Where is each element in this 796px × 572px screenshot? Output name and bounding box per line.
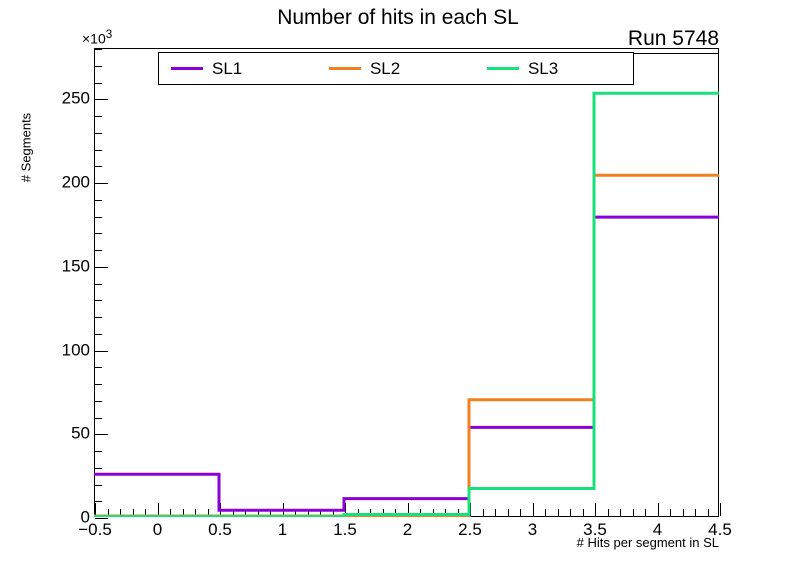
y-axis-multiplier-base: ×10 <box>82 31 106 47</box>
legend-swatch-sl3-icon <box>487 67 519 70</box>
legend-label: SL2 <box>370 59 400 79</box>
x-axis-title: # Hits per segment in SL <box>0 535 796 550</box>
y-axis-multiplier: ×103 <box>82 28 112 47</box>
histogram-series-sl1 <box>94 217 719 510</box>
x-axis-tick-label: −0.5 <box>78 520 112 540</box>
legend-entry-sl3[interactable]: SL3 <box>475 59 633 79</box>
histogram-series-sl3 <box>94 93 719 516</box>
y-axis-multiplier-exponent: 3 <box>106 28 112 41</box>
chart-canvas: Number of hits in each SL Run 5748 ×103 … <box>0 0 796 572</box>
legend-label: SL3 <box>528 59 558 79</box>
x-axis-tick-label: 3 <box>528 520 537 540</box>
y-axis-tick-label: 200 <box>62 173 90 193</box>
y-axis-major-tick: 0 <box>95 518 108 519</box>
histogram-series-group <box>94 48 719 517</box>
x-axis-tick-label: 1 <box>278 520 287 540</box>
x-axis-tick-label: 2 <box>403 520 412 540</box>
y-axis-tick-label: 150 <box>62 256 90 276</box>
x-axis-tick-label: 1.5 <box>333 520 357 540</box>
x-axis-tick-label: 3.5 <box>583 520 607 540</box>
legend-entry-sl1[interactable]: SL1 <box>159 59 317 79</box>
legend-swatch-sl2-icon <box>329 67 361 70</box>
x-axis-tick-label: 0.5 <box>208 520 232 540</box>
legend-label: SL1 <box>212 59 242 79</box>
x-axis-tick-label: 2.5 <box>458 520 482 540</box>
histogram-series-sl2 <box>94 175 719 516</box>
legend[interactable]: SL1SL2SL3 <box>158 52 634 85</box>
legend-entry-sl2[interactable]: SL2 <box>317 59 475 79</box>
y-axis-title: # Segments <box>19 88 34 208</box>
y-axis-tick-label: 250 <box>62 89 90 109</box>
x-axis-tick-label: 0 <box>153 520 162 540</box>
y-axis-tick-label: 50 <box>71 424 90 444</box>
legend-swatch-sl1-icon <box>171 67 203 70</box>
x-axis-tick-label: 4.5 <box>708 520 732 540</box>
y-axis-tick-label: 100 <box>62 340 90 360</box>
x-axis-tick-label: 4 <box>653 520 662 540</box>
x-axis-major-tick: 4.5 <box>720 503 721 516</box>
